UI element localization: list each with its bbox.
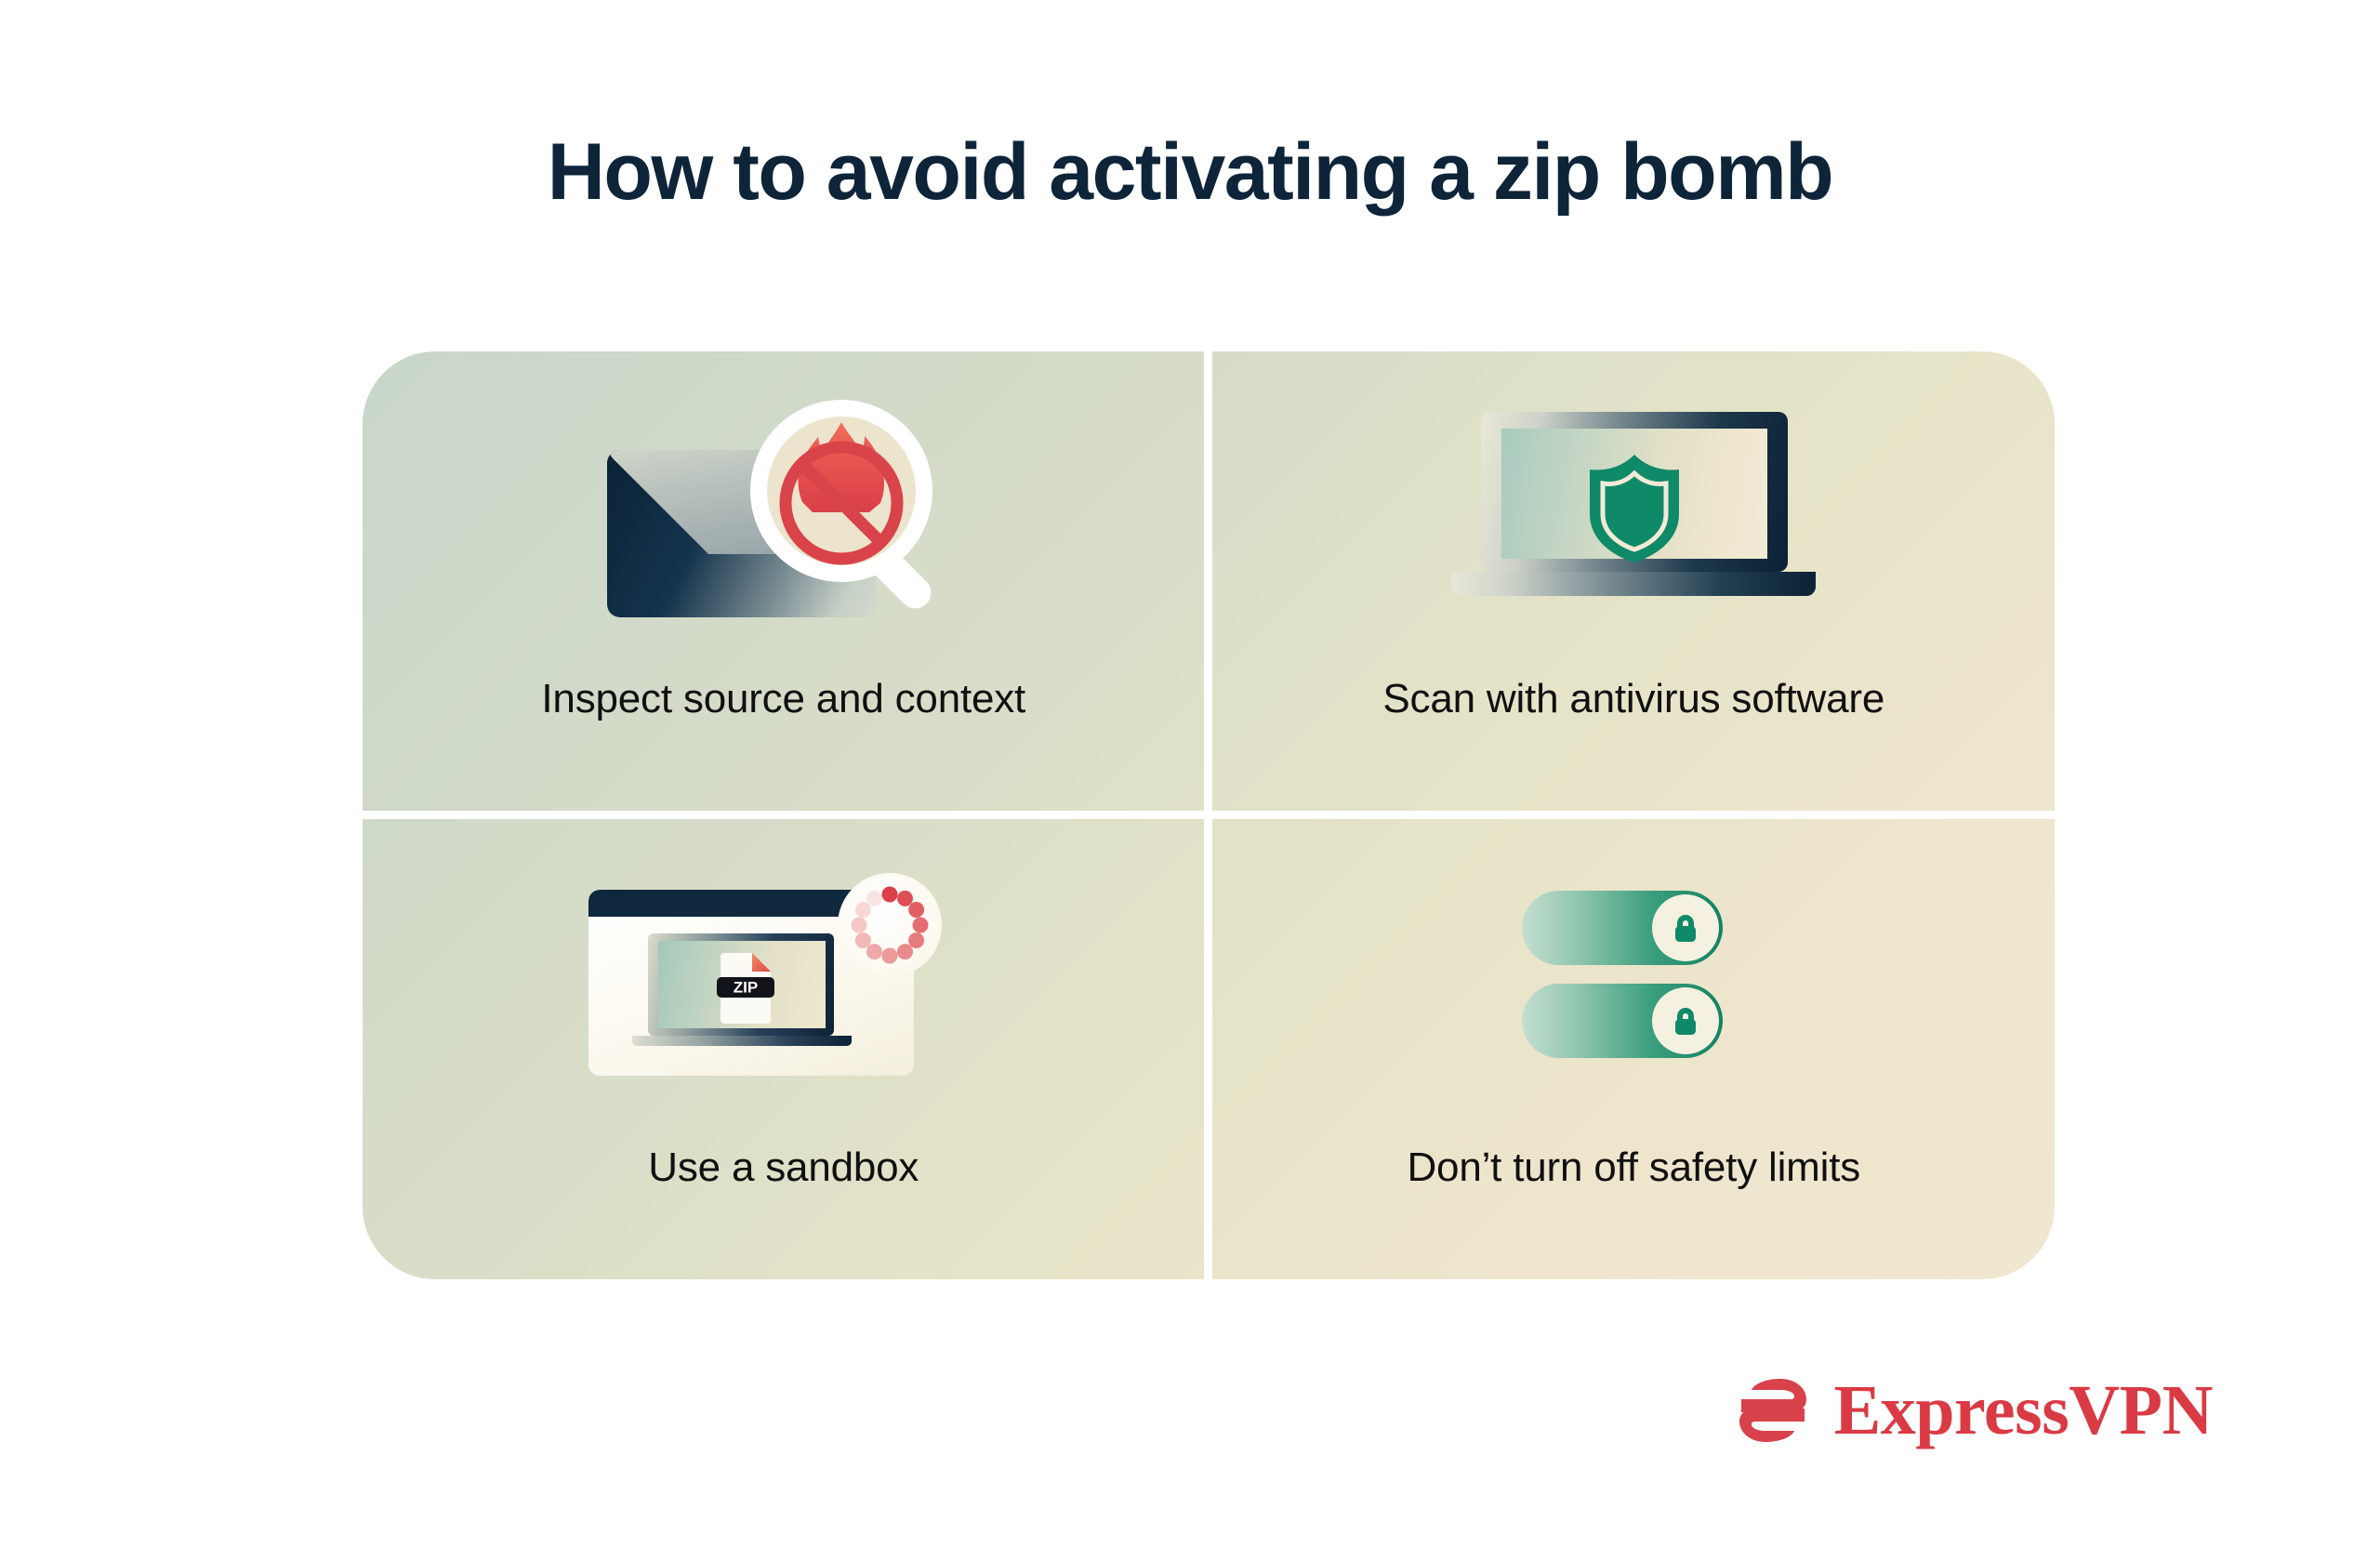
magnifier-icon [745, 396, 977, 628]
page-title: How to avoid activating a zip bomb [0, 128, 2380, 217]
spinner-dots [838, 873, 942, 977]
zip-badge-label: ZIP [734, 979, 758, 997]
expressvpn-logo[interactable]: ExpressVPN [1732, 1369, 2213, 1451]
card-scan-antivirus[interactable]: Scan with antivirus software [1213, 351, 2056, 812]
card-safety-limits[interactable]: Don’t turn off safety limits [1213, 820, 2056, 1280]
lock-icon [1667, 909, 1704, 946]
toggle-switch-icon[interactable] [1522, 984, 1723, 1058]
card-safety-limits-label: Don’t turn off safety limits [1407, 1144, 1860, 1191]
toggle-knob [1652, 894, 1719, 961]
card-inspect-source-art [363, 351, 1205, 672]
expressvpn-wordmark: ExpressVPN [1834, 1375, 2213, 1446]
laptop-base [632, 1036, 852, 1046]
toggle-knob [1652, 987, 1719, 1054]
card-use-sandbox[interactable]: ZIP [363, 820, 1205, 1280]
loading-spinner-icon [838, 873, 942, 977]
card-inspect-source[interactable]: Inspect source and context [363, 351, 1205, 812]
card-scan-antivirus-label: Scan with antivirus software [1382, 676, 1884, 722]
lock-icon [1667, 1002, 1704, 1039]
toggle-switch-icon[interactable] [1522, 891, 1723, 965]
laptop-base [1451, 572, 1816, 596]
card-inspect-source-label: Inspect source and context [541, 676, 1025, 722]
card-safety-limits-art [1213, 820, 2056, 1141]
expressvpn-logo-mark [1732, 1369, 1814, 1451]
card-use-sandbox-art: ZIP [363, 820, 1205, 1141]
shield-icon [1585, 453, 1684, 564]
infographic-page: How to avoid activating a zip bomb [0, 0, 2380, 1561]
tips-grid: Inspect source and context Scan with ant… [363, 351, 2055, 1279]
card-scan-antivirus-art [1213, 351, 2056, 672]
zip-file-icon: ZIP [717, 949, 774, 1024]
card-use-sandbox-label: Use a sandbox [648, 1144, 919, 1191]
